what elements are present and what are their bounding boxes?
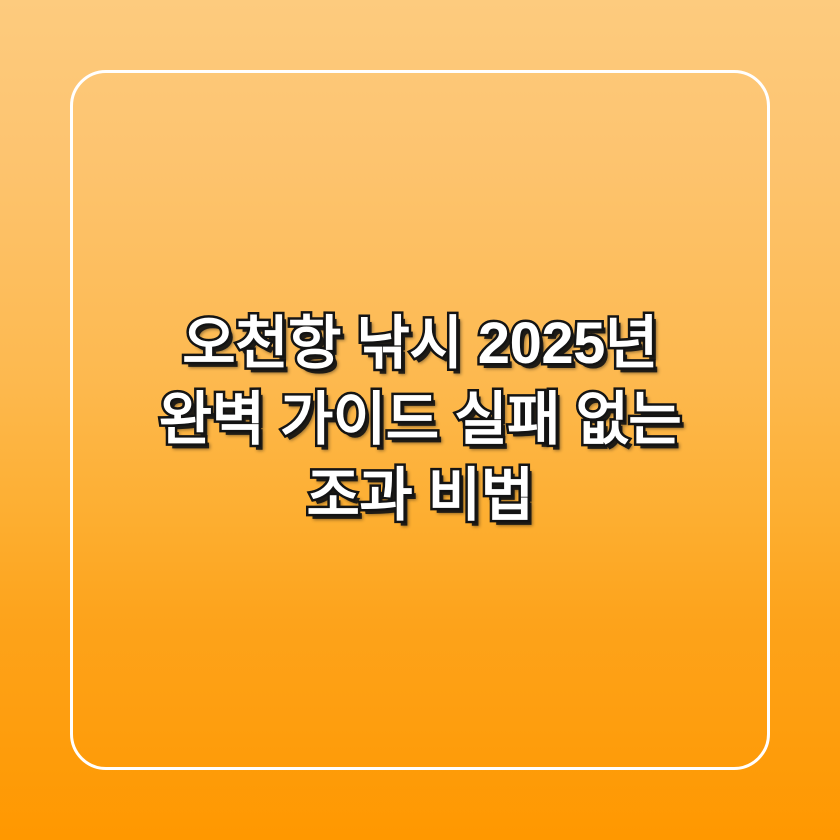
thumbnail-card: 오천항 낚시 2025년 완벽 가이드 실패 없는 조과 비법 <box>0 0 840 840</box>
headline-block: 오천항 낚시 2025년 완벽 가이드 실패 없는 조과 비법 <box>0 0 840 840</box>
headline-line-3: 조과 비법 <box>86 458 754 534</box>
headline-line-1: 오천항 낚시 2025년 <box>86 306 754 382</box>
headline-line-2: 완벽 가이드 실패 없는 <box>86 382 754 458</box>
